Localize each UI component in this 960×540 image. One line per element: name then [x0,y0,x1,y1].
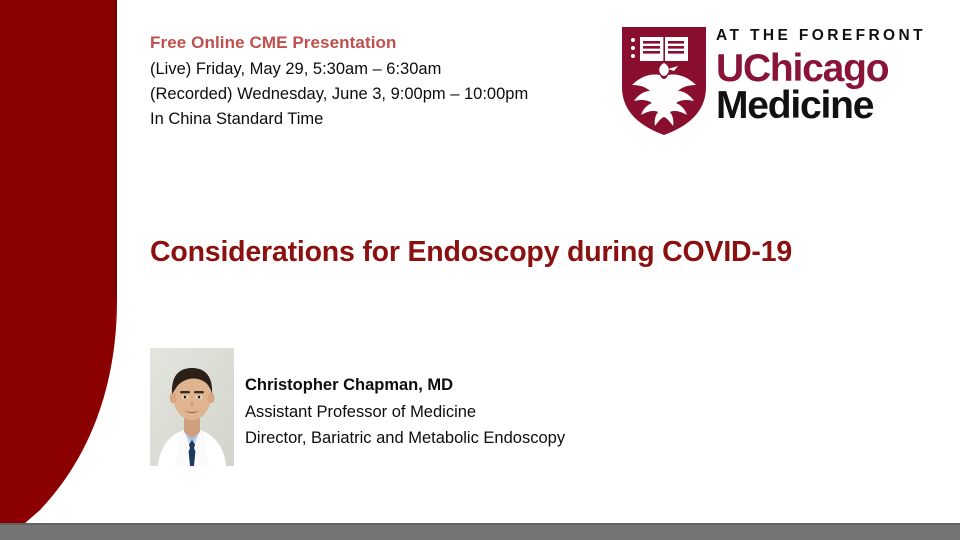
left-red-decorative-band [0,0,120,524]
presentation-slide: Free Online CME Presentation (Live) Frid… [0,0,960,540]
speaker-block: Christopher Chapman, MD Assistant Profes… [150,348,750,466]
schedule-line-timezone: In China Standard Time [150,107,620,132]
schedule-line-recorded: (Recorded) Wednesday, June 3, 9:00pm – 1… [150,82,620,107]
uchicago-medicine-logo: AT THE FOREFRONT UChicago Medicine [620,23,925,138]
speaker-headshot-photo [150,348,234,466]
wordmark-uchicago: UChicago [716,49,926,89]
speaker-details: Christopher Chapman, MD Assistant Profes… [245,373,745,452]
speaker-title-line-2: Director, Bariatric and Metabolic Endosc… [245,425,745,452]
header-text-block: Free Online CME Presentation (Live) Frid… [150,32,620,132]
footer-bar [0,523,960,540]
cme-kicker: Free Online CME Presentation [150,32,620,54]
uchicago-medicine-wordmark: AT THE FOREFRONT UChicago Medicine [716,23,926,126]
tagline-at-the-forefront: AT THE FOREFRONT [716,28,926,44]
wordmark-medicine: Medicine [716,86,926,126]
speaker-name: Christopher Chapman, MD [245,373,745,399]
speaker-title-line-1: Assistant Professor of Medicine [245,399,745,426]
schedule-line-live: (Live) Friday, May 29, 5:30am – 6:30am [150,57,620,82]
uchicago-crest-icon [620,25,708,137]
page-title: Considerations for Endoscopy during COVI… [150,236,940,269]
